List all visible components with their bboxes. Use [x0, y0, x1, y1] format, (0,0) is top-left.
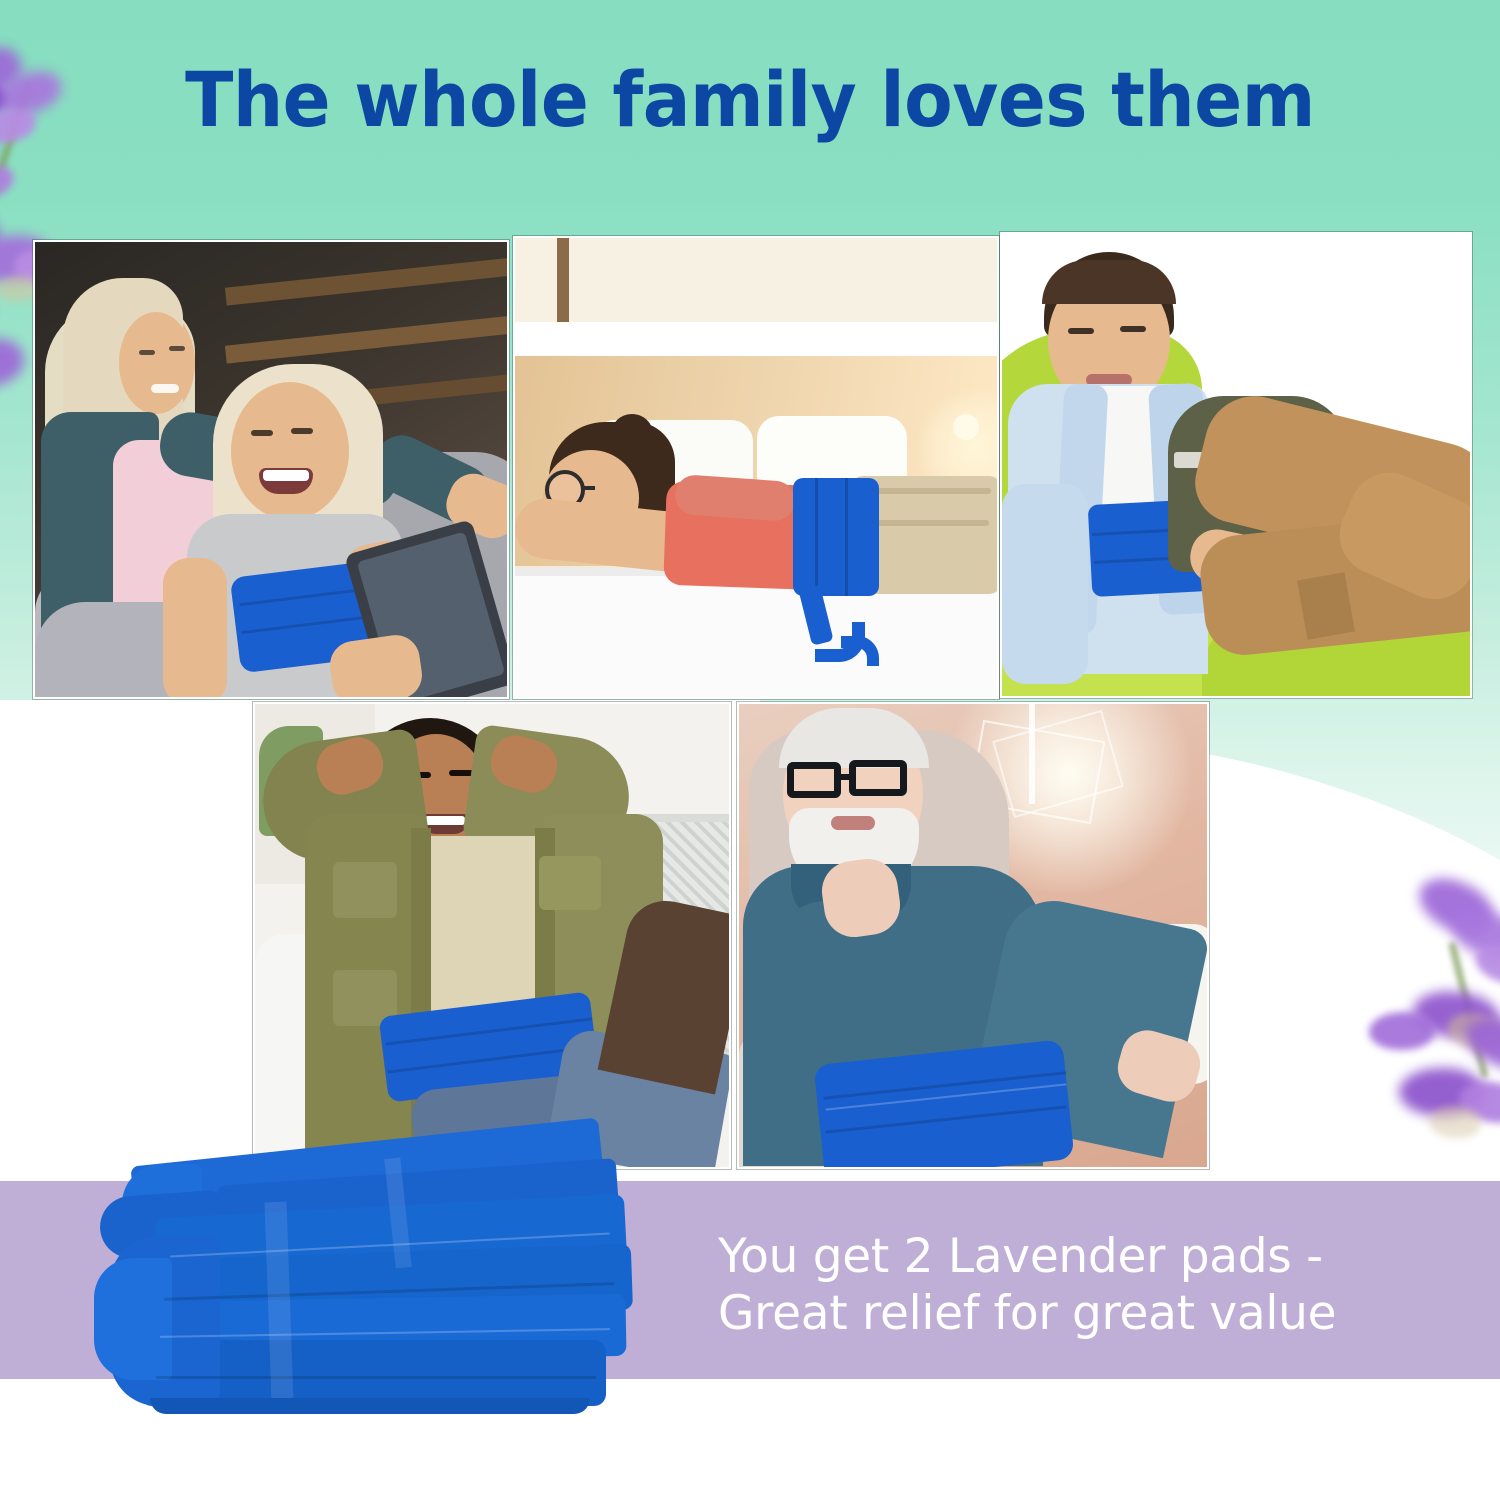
infographic-canvas: The whole family loves them [0, 0, 1500, 1500]
photo-senior-man-armchair [737, 702, 1209, 1169]
promo-banner-text: You get 2 Lavender pads - Great relief f… [718, 1228, 1458, 1342]
photo-mother-and-daughter [33, 240, 509, 699]
promo-line-1: You get 2 Lavender pads - [718, 1228, 1458, 1285]
page-title: The whole family loves them [53, 62, 1448, 138]
photo-young-man-beanbag [1000, 232, 1472, 698]
photo-teen-on-couch [253, 702, 731, 1169]
photo-woman-lying-in-bed [513, 236, 999, 699]
promo-line-2: Great relief for great value [718, 1285, 1458, 1342]
product-folded-heating-pads [60, 1140, 700, 1470]
